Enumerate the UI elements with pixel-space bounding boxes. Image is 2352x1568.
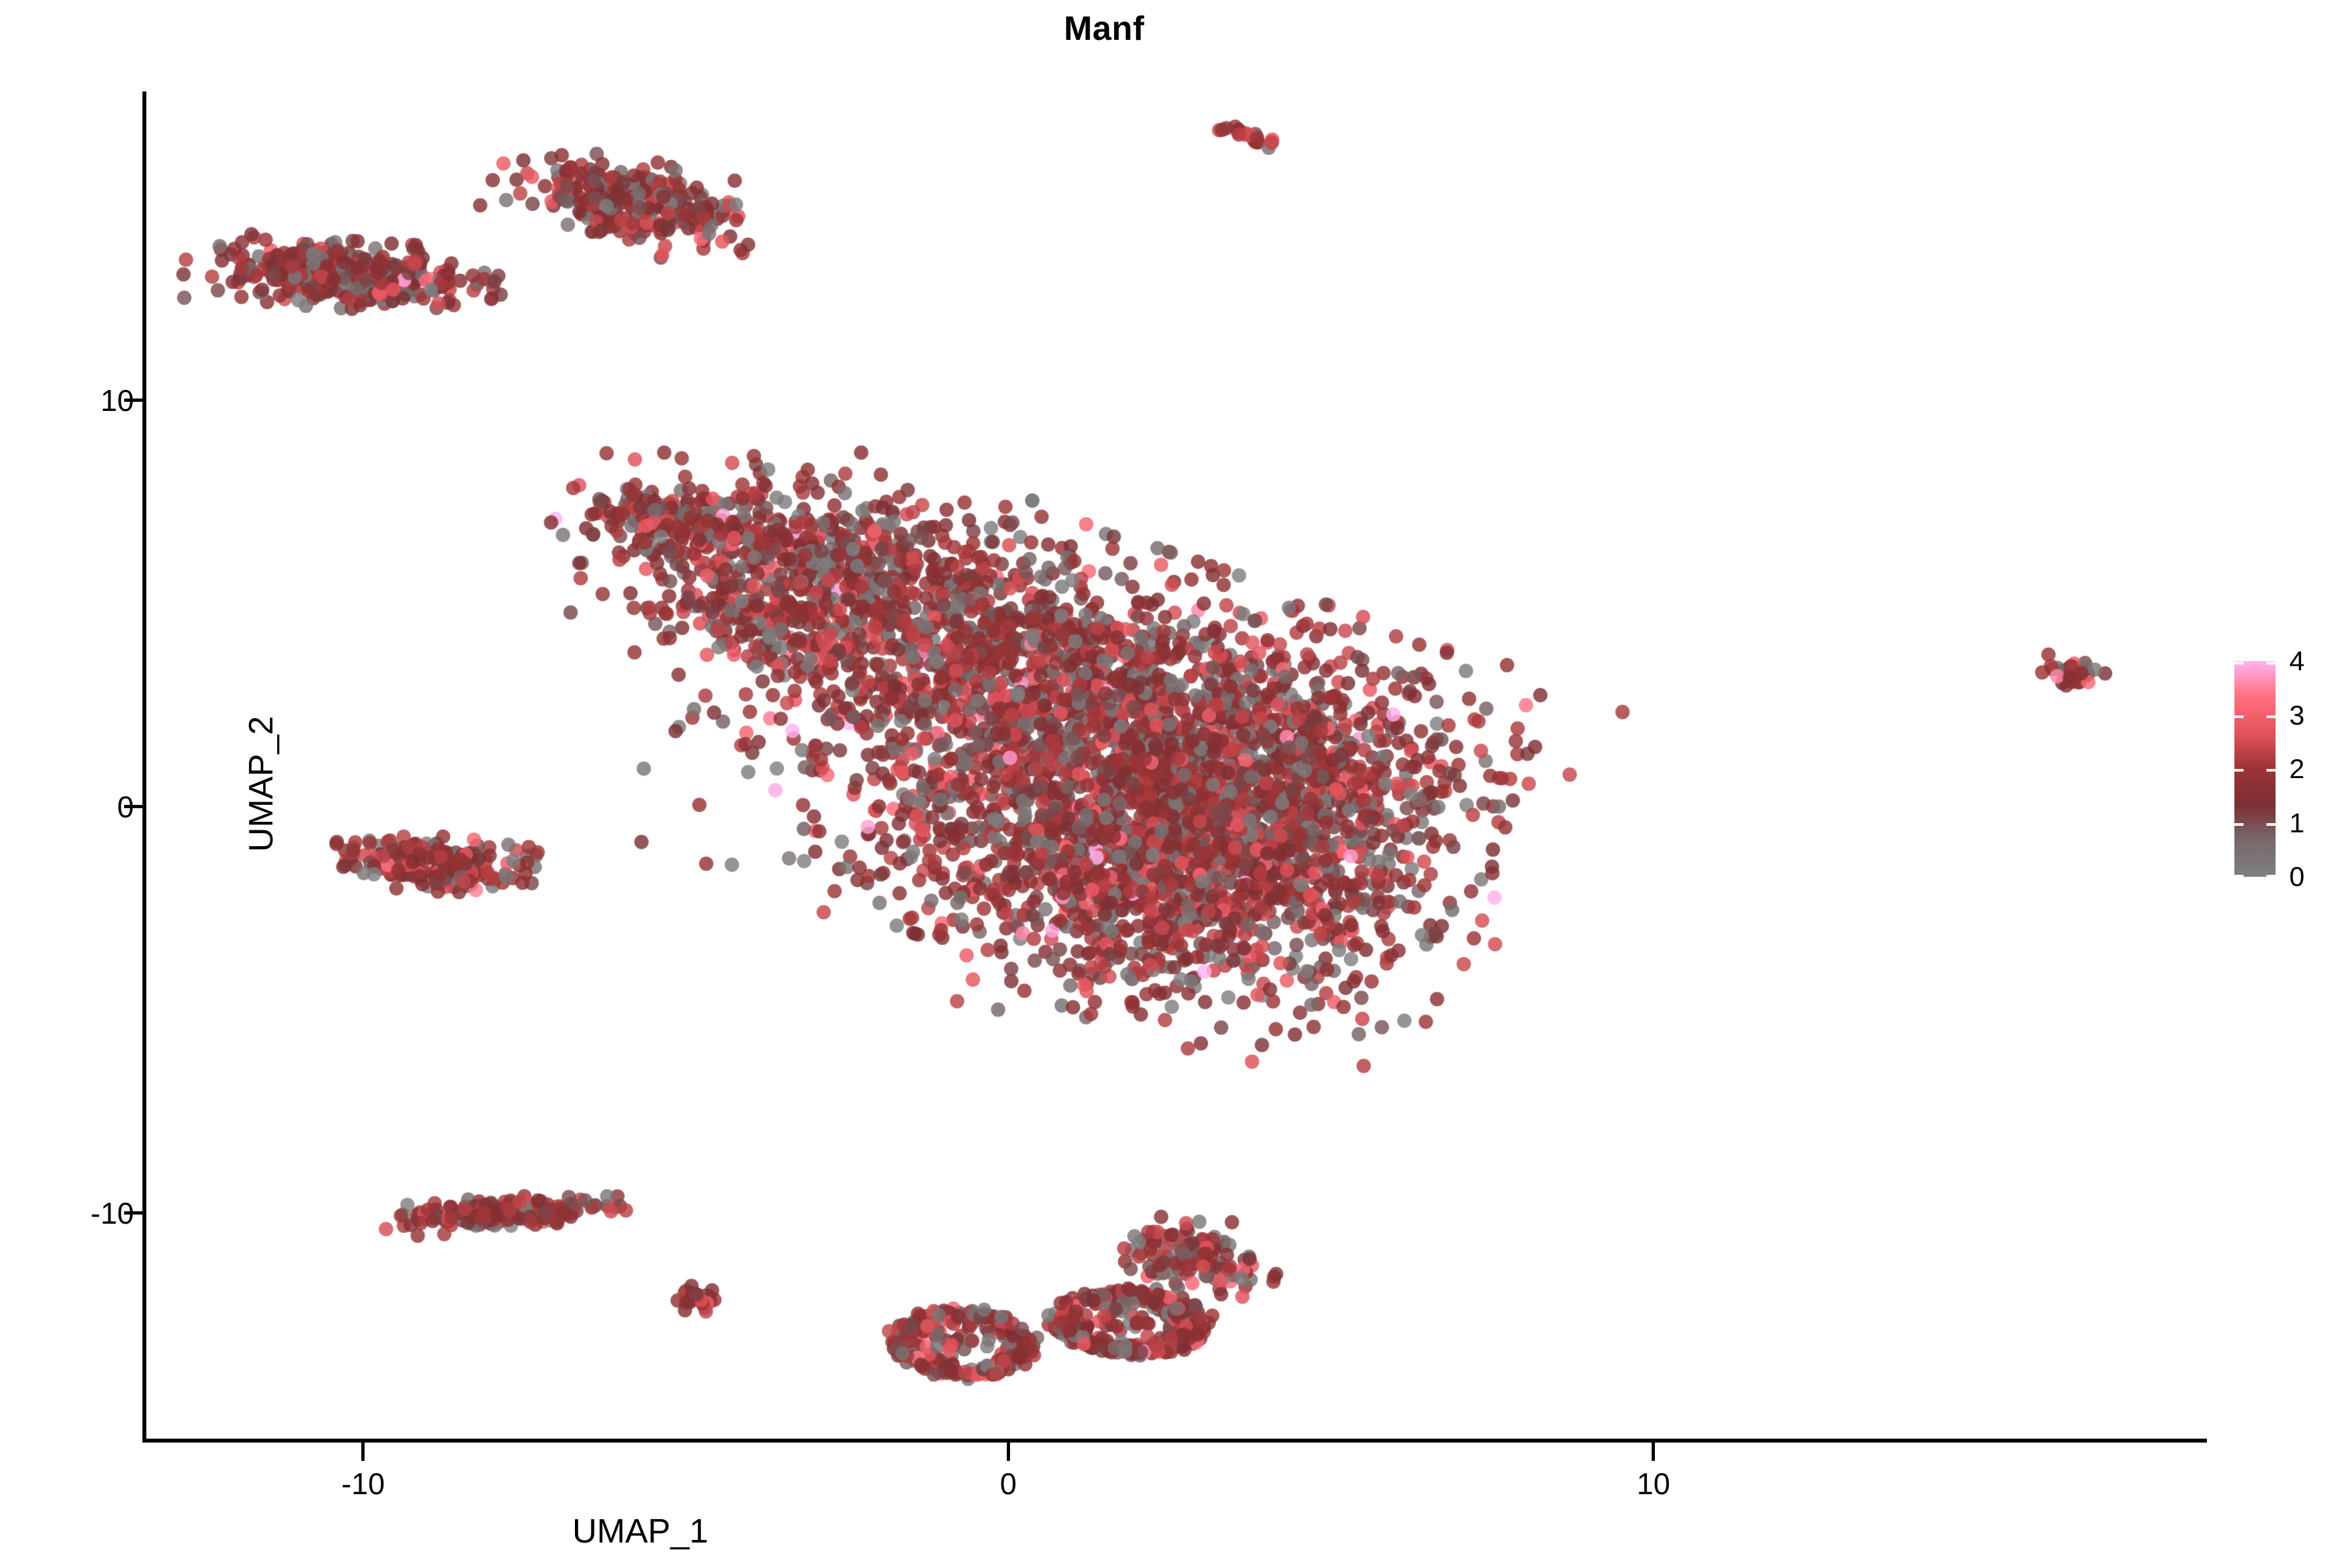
scatter-points-layer [144,91,2208,1441]
x-axis-title: UMAP_1 [0,1514,2352,1548]
page-title: Manf [0,12,2208,46]
y-axis-tick-label: 0 [117,792,134,822]
x-axis-line [142,1439,2207,1443]
x-axis-title-text: UMAP_1 [572,1512,708,1550]
x-axis-tick-label: 10 [1637,1469,1670,1499]
color-legend-label: 0 [2289,863,2304,890]
color-legend-tickmark [2234,715,2244,718]
y-axis-tick-label: 10 [101,385,134,416]
color-legend-tickmark [2234,823,2244,826]
x-axis-tick [1652,1443,1655,1461]
color-legend: 43210 [2234,661,2332,890]
x-axis-tick-label: 0 [1000,1469,1017,1499]
color-legend-tickmark [2266,662,2276,664]
color-legend-tickmark [2234,875,2244,877]
y-axis-tick-label: -10 [91,1198,134,1228]
x-axis-tick [361,1443,365,1461]
x-axis-tick [1007,1443,1010,1461]
color-legend-label: 4 [2289,647,2304,675]
x-axis-tick-label: -10 [342,1469,385,1499]
color-legend-tickmark [2266,769,2276,772]
color-legend-tickmark [2234,769,2244,772]
y-axis-line [142,91,146,1443]
color-legend-label: 1 [2289,809,2304,837]
color-legend-label: 3 [2289,702,2304,729]
color-legend-label: 2 [2289,755,2304,783]
color-legend-tickmark [2266,875,2276,877]
plot-panel [144,91,2208,1441]
color-legend-tickmark [2234,662,2244,664]
color-legend-tickmark [2266,715,2276,718]
color-legend-tickmark [2266,823,2276,826]
umap-feature-plot: Manf -10010100-10 UMAP_1 UMAP_2 43210 [0,0,2352,1568]
